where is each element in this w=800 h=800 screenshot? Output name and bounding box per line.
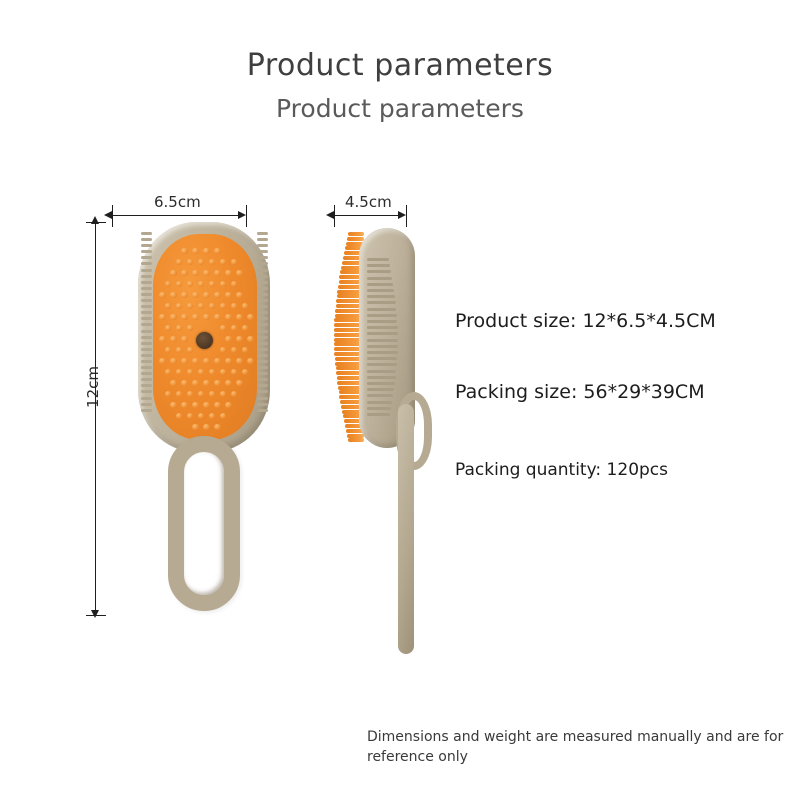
silicone-nub	[198, 259, 204, 265]
silicone-nub	[220, 347, 226, 353]
silicone-nub	[203, 292, 209, 298]
comb-tooth	[141, 256, 152, 259]
comb-tooth	[257, 409, 268, 412]
silicone-nub	[225, 380, 231, 386]
silicone-nub	[165, 391, 171, 397]
comb-tooth	[367, 388, 394, 391]
silicone-nub	[165, 369, 171, 375]
silicone-nub	[220, 259, 226, 265]
comb-tooth	[367, 351, 398, 354]
silicone-nub	[220, 281, 226, 287]
silicone-nub	[187, 281, 193, 287]
comb-tooth	[257, 281, 268, 284]
comb-tooth	[257, 275, 268, 278]
silicone-nub	[209, 303, 215, 309]
comb-tooth	[257, 244, 268, 247]
page-subtitle: Product parameters	[0, 94, 800, 123]
silicone-nub	[170, 314, 176, 320]
side-width-arrow-right	[398, 211, 406, 219]
comb-tooth	[257, 293, 268, 296]
silicone-nub	[209, 281, 215, 287]
silicone-nub	[176, 391, 182, 397]
comb-tooth	[367, 277, 392, 280]
silicone-nub	[176, 303, 182, 309]
comb-tooth	[257, 366, 268, 369]
comb-tooth	[367, 301, 396, 304]
silicone-nub	[187, 369, 193, 375]
comb-tooth	[257, 342, 268, 345]
comb-tooth	[141, 397, 152, 400]
silicone-nub	[220, 413, 226, 419]
height-line	[95, 222, 96, 610]
silicone-nub	[170, 402, 176, 408]
silicone-nub	[176, 413, 182, 419]
comb-tooth	[141, 244, 152, 247]
silicone-nub	[198, 391, 204, 397]
silicone-nub	[181, 402, 187, 408]
silicone-nub	[181, 380, 187, 386]
silicone-nub	[214, 270, 220, 276]
comb-tooth	[257, 384, 268, 387]
silicone-nub	[203, 314, 209, 320]
front-width-arrow-left	[104, 211, 112, 219]
silicone-nub	[242, 347, 248, 353]
silicone-nub	[181, 270, 187, 276]
comb-tooth	[141, 409, 152, 412]
silicone-nub	[198, 369, 204, 375]
comb-tooth	[257, 232, 268, 235]
comb-tooth	[257, 390, 268, 393]
brush-side-comb	[367, 258, 397, 418]
comb-tooth	[141, 366, 152, 369]
silicone-nub	[187, 259, 193, 265]
comb-tooth	[367, 270, 391, 273]
silicone-nub	[225, 314, 231, 320]
silicone-nub	[231, 391, 237, 397]
silicone-nub	[225, 358, 231, 364]
silicone-nub	[181, 248, 187, 254]
comb-tooth	[141, 342, 152, 345]
comb-tooth	[257, 336, 268, 339]
silicone-nub	[192, 314, 198, 320]
comb-tooth	[367, 345, 398, 348]
silicone-nub	[170, 270, 176, 276]
silicone-nub	[214, 314, 220, 320]
silicone-nub	[231, 347, 237, 353]
comb-tooth	[141, 390, 152, 393]
silicone-nub	[198, 281, 204, 287]
comb-tooth	[367, 264, 390, 267]
silicone-nub	[236, 380, 242, 386]
silicone-nub	[203, 358, 209, 364]
silicone-nub	[220, 369, 226, 375]
comb-tooth	[257, 287, 268, 290]
silicone-nub	[165, 281, 171, 287]
silicone-nub	[159, 358, 165, 364]
comb-tooth	[367, 339, 398, 342]
height-arrow-down	[91, 610, 99, 618]
footnote-disclaimer: Dimensions and weight are measured manua…	[367, 727, 787, 768]
comb-tooth	[141, 360, 152, 363]
silicone-nub	[214, 424, 220, 430]
silicone-nub	[209, 369, 215, 375]
comb-tooth	[367, 326, 398, 329]
silicone-nub	[181, 336, 187, 342]
silicone-nub	[214, 358, 220, 364]
comb-tooth	[141, 311, 152, 314]
comb-tooth	[257, 372, 268, 375]
height-label: 12cm	[84, 366, 102, 408]
comb-tooth	[141, 281, 152, 284]
silicone-nub	[236, 270, 242, 276]
silicone-nub	[242, 369, 248, 375]
comb-tooth	[257, 397, 268, 400]
silicone-nub	[231, 259, 237, 265]
spec-packing-size: Packing size: 56*29*39CM	[455, 381, 705, 403]
comb-tooth	[367, 376, 396, 379]
silicone-nub	[176, 259, 182, 265]
brush-front-view	[110, 222, 290, 622]
comb-tooth	[257, 354, 268, 357]
silicone-nub	[192, 424, 198, 430]
side-width-line	[334, 215, 398, 216]
silicone-nub	[231, 325, 237, 331]
silicone-nub	[170, 292, 176, 298]
silicone-nub	[165, 347, 171, 353]
silicone-nub	[220, 391, 226, 397]
comb-tooth	[257, 305, 268, 308]
page-title: Product parameters	[0, 48, 800, 83]
silicone-nub	[187, 391, 193, 397]
silicone-nub	[181, 314, 187, 320]
comb-tooth	[367, 295, 395, 298]
comb-tooth	[257, 311, 268, 314]
silicone-nub	[165, 325, 171, 331]
silicone-nub	[247, 336, 253, 342]
silicone-nub	[225, 270, 231, 276]
silicone-nub	[170, 336, 176, 342]
silicone-nub	[236, 358, 242, 364]
front-width-arrow-right	[238, 211, 246, 219]
silicone-nub	[198, 413, 204, 419]
silicone-nub	[181, 292, 187, 298]
silicone-nub	[203, 402, 209, 408]
comb-tooth	[141, 384, 152, 387]
comb-tooth	[367, 332, 398, 335]
comb-tooth	[257, 256, 268, 259]
comb-tooth	[141, 232, 152, 235]
silicone-nub	[159, 314, 165, 320]
silicone-nub	[214, 292, 220, 298]
silicone-nub	[247, 358, 253, 364]
silicone-nub	[176, 369, 182, 375]
silicone-nub	[187, 347, 193, 353]
brush-front-comb-left	[141, 232, 152, 418]
comb-tooth	[257, 323, 268, 326]
comb-tooth	[257, 238, 268, 241]
silicone-nub	[176, 281, 182, 287]
comb-tooth	[141, 250, 152, 253]
comb-tooth	[141, 238, 152, 241]
comb-tooth	[141, 262, 152, 265]
silicone-nub	[192, 380, 198, 386]
comb-tooth	[367, 258, 389, 261]
comb-tooth	[367, 357, 397, 360]
comb-tooth	[141, 378, 152, 381]
silicone-nub	[176, 347, 182, 353]
bristle	[348, 438, 364, 442]
comb-tooth	[367, 394, 393, 397]
comb-tooth	[367, 413, 390, 416]
silicone-nub	[192, 248, 198, 254]
comb-tooth	[141, 269, 152, 272]
silicone-nub	[192, 358, 198, 364]
silicone-nub	[236, 314, 242, 320]
brush-front-comb-right	[257, 232, 268, 418]
silicone-nub	[231, 281, 237, 287]
brush-front-handle	[168, 436, 240, 611]
spec-product-size: Product size: 12*6.5*4.5CM	[455, 310, 716, 332]
comb-tooth	[257, 317, 268, 320]
silicone-nub	[203, 270, 209, 276]
product-parameters-page: Product parameters Product parameters 6.…	[0, 0, 800, 800]
silicone-nub	[236, 292, 242, 298]
silicone-nub	[214, 380, 220, 386]
comb-tooth	[257, 403, 268, 406]
silicone-nub	[187, 325, 193, 331]
side-width-label: 4.5cm	[345, 193, 392, 211]
comb-tooth	[367, 370, 396, 373]
comb-tooth	[257, 360, 268, 363]
comb-tooth	[141, 336, 152, 339]
silicone-nub	[236, 336, 242, 342]
height-tick-bottom	[86, 615, 106, 616]
comb-tooth	[141, 372, 152, 375]
silicone-nub	[209, 391, 215, 397]
silicone-nub	[214, 248, 220, 254]
silicone-nub	[225, 292, 231, 298]
silicone-nub	[231, 369, 237, 375]
silicone-nub	[159, 292, 165, 298]
silicone-nub	[231, 303, 237, 309]
comb-tooth	[141, 330, 152, 333]
silicone-nub	[170, 358, 176, 364]
comb-tooth	[141, 299, 152, 302]
comb-tooth	[367, 407, 391, 410]
silicone-nub	[192, 292, 198, 298]
silicone-nub	[187, 303, 193, 309]
comb-tooth	[141, 305, 152, 308]
silicone-nub	[247, 314, 253, 320]
comb-tooth	[141, 275, 152, 278]
bristle	[348, 232, 364, 236]
comb-tooth	[141, 323, 152, 326]
comb-tooth	[367, 382, 395, 385]
silicone-nub	[209, 413, 215, 419]
silicone-nub	[225, 336, 231, 342]
comb-tooth	[141, 348, 152, 351]
silicone-nub	[203, 380, 209, 386]
silicone-nub	[187, 413, 193, 419]
brush-side-handle	[398, 404, 414, 654]
silicone-nub	[220, 303, 226, 309]
comb-tooth	[257, 330, 268, 333]
comb-tooth	[141, 403, 152, 406]
silicone-nub	[170, 380, 176, 386]
silicone-nub	[203, 424, 209, 430]
silicone-nub	[220, 325, 226, 331]
comb-tooth	[257, 250, 268, 253]
spec-packing-quantity: Packing quantity: 120pcs	[455, 460, 668, 480]
silicone-nub	[198, 303, 204, 309]
comb-tooth	[367, 320, 397, 323]
silicone-nub	[203, 248, 209, 254]
front-width-line	[112, 215, 238, 216]
silicone-nub	[176, 325, 182, 331]
silicone-nub	[225, 402, 231, 408]
front-width-label: 6.5cm	[154, 193, 201, 211]
silicone-nub	[165, 303, 171, 309]
silicone-nub	[192, 402, 198, 408]
comb-tooth	[257, 378, 268, 381]
height-tick-top	[86, 222, 106, 223]
brush-side-view	[320, 222, 460, 622]
bristle	[347, 434, 364, 438]
silicone-nub	[192, 270, 198, 276]
comb-tooth	[367, 363, 397, 366]
silicone-nub	[181, 358, 187, 364]
comb-tooth	[367, 289, 394, 292]
comb-tooth	[367, 283, 393, 286]
silicone-nub	[209, 259, 215, 265]
side-width-arrow-left	[326, 211, 334, 219]
silicone-nub	[214, 402, 220, 408]
comb-tooth	[367, 308, 396, 311]
bristle	[347, 237, 364, 241]
comb-tooth	[257, 348, 268, 351]
silicone-nub	[242, 325, 248, 331]
comb-tooth	[257, 299, 268, 302]
comb-tooth	[141, 354, 152, 357]
comb-tooth	[257, 269, 268, 272]
silicone-nub	[242, 303, 248, 309]
comb-tooth	[141, 287, 152, 290]
comb-tooth	[367, 314, 397, 317]
brush-front-nozzle-hole	[196, 332, 213, 349]
comb-tooth	[141, 293, 152, 296]
comb-tooth	[367, 401, 392, 404]
comb-tooth	[141, 317, 152, 320]
comb-tooth	[257, 262, 268, 265]
silicone-nub	[159, 336, 165, 342]
